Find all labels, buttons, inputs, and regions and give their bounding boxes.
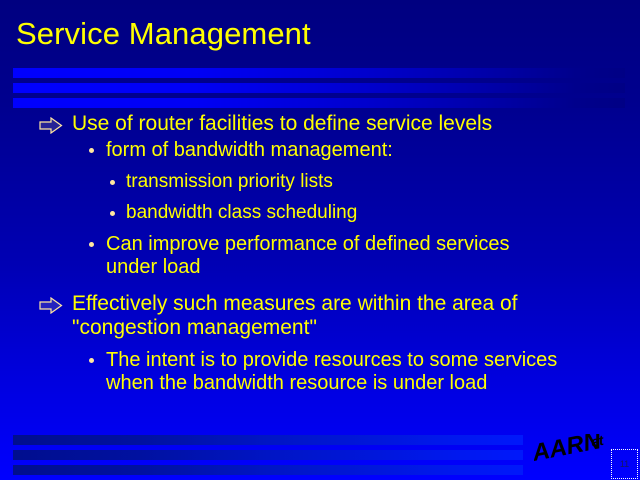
decorative-bar: [13, 450, 523, 460]
bullet-text-continuation: under load: [106, 256, 640, 279]
bullet-item-level1: Use of router facilities to define servi…: [0, 112, 640, 136]
bullet-text-continuation: "congestion management": [72, 316, 640, 340]
top-decorative-bars: [13, 68, 625, 113]
bullet-dot-icon: [110, 211, 115, 216]
bullet-dot-icon: [110, 180, 115, 185]
bullet-text: bandwidth class scheduling: [126, 202, 640, 224]
arrow-right-outline-icon: [39, 296, 63, 313]
bullet-dot-icon: [89, 358, 94, 363]
bullet-text: transmission priority lists: [126, 171, 640, 193]
bullet-item-level3: transmission priority lists: [0, 171, 640, 193]
decorative-bar: [13, 83, 625, 93]
slide-body: Use of router facilities to define servi…: [0, 112, 640, 397]
bullet-text: The intent is to provide resources to so…: [106, 349, 640, 372]
bullet-item-level2: The intent is to provide resources to so…: [0, 349, 640, 395]
slide-title: Service Management: [16, 16, 311, 52]
arrow-right-outline-icon: [39, 116, 63, 133]
aarnet-logo-suffix: et: [590, 434, 607, 450]
bullet-dot-icon: [89, 148, 94, 153]
bullet-text: form of bandwidth management:: [106, 139, 640, 162]
bullet-text: Effectively such measures are within the…: [72, 292, 640, 316]
decorative-bar: [13, 68, 625, 78]
page-number-box: 11: [611, 449, 638, 479]
bullet-item-level1: Effectively such measures are within the…: [0, 292, 640, 340]
decorative-bar: [13, 98, 625, 108]
decorative-bar: [13, 435, 523, 445]
bullet-item-level2: Can improve performance of defined servi…: [0, 233, 640, 279]
bullet-text: Use of router facilities to define servi…: [72, 112, 640, 136]
bottom-decorative-bars: [13, 435, 523, 480]
bullet-dot-icon: [89, 242, 94, 247]
decorative-bar: [13, 465, 523, 475]
bullet-item-level2: form of bandwidth management:: [0, 139, 640, 162]
page-number: 11: [612, 459, 637, 469]
bullet-text-continuation: when the bandwidth resource is under loa…: [106, 372, 640, 395]
aarnet-logo: AARN et: [534, 434, 616, 468]
bullet-item-level3: bandwidth class scheduling: [0, 202, 640, 224]
bullet-text: Can improve performance of defined servi…: [106, 233, 640, 256]
slide-canvas: Service Management Use of router facilit…: [0, 0, 640, 480]
